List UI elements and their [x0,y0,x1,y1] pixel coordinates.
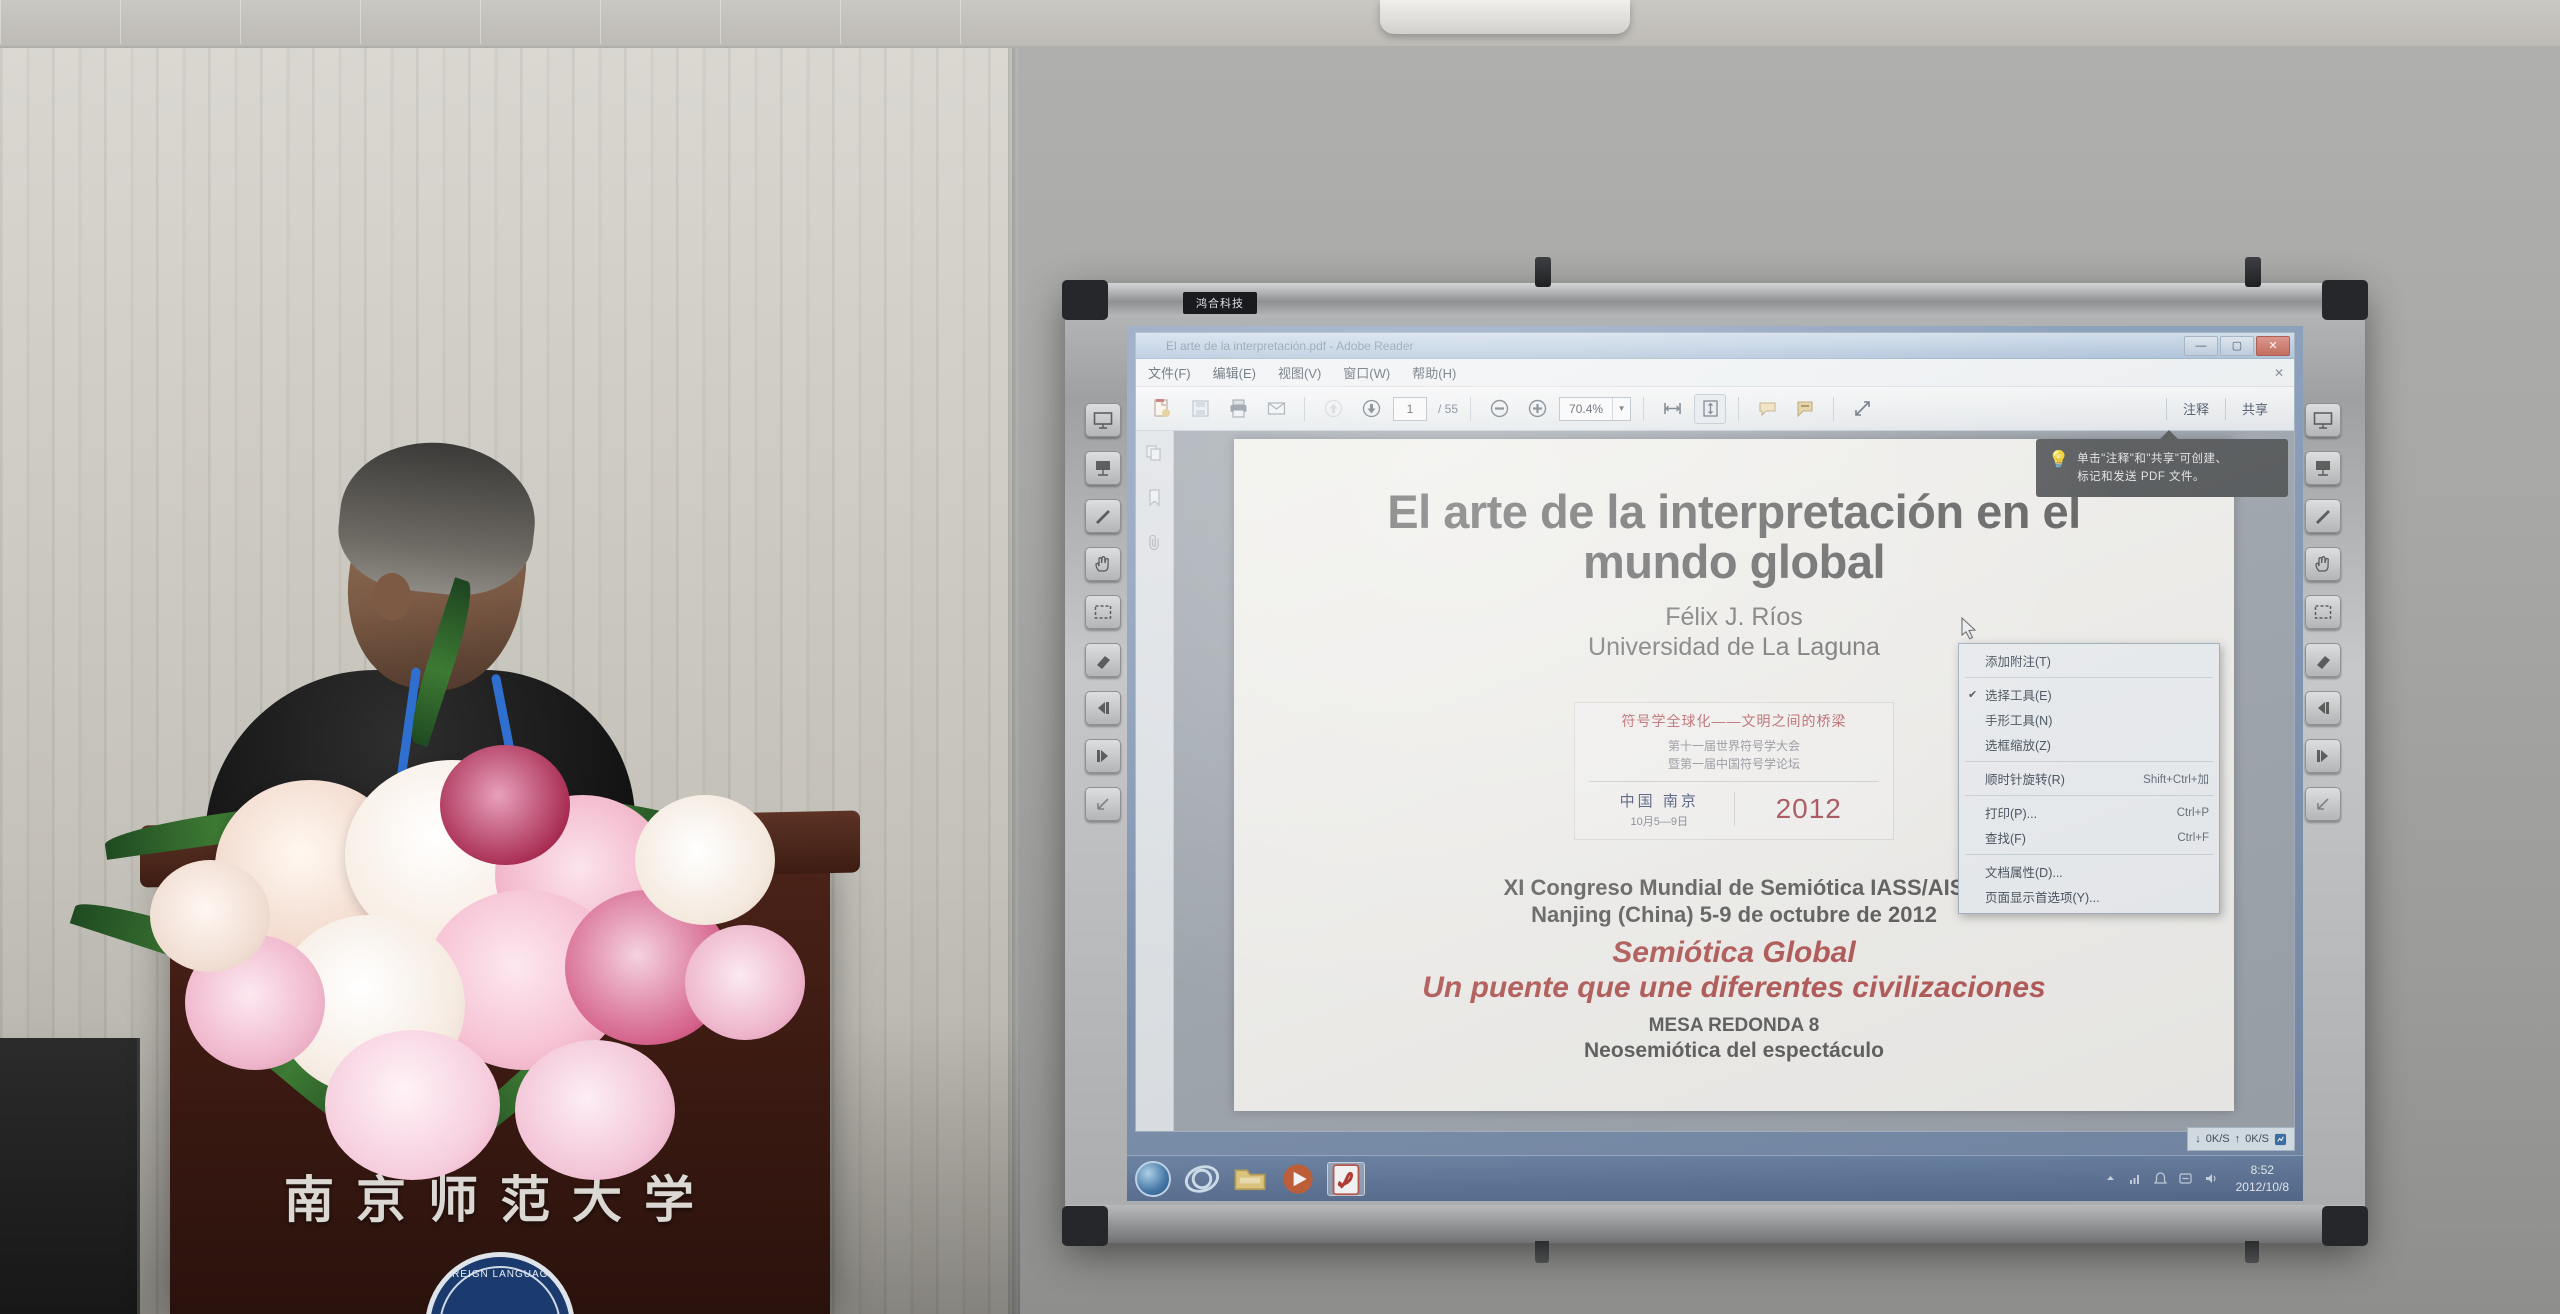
context-menu-item-hand-tool[interactable]: 手形工具(N) [1959,707,2219,732]
whiteboard-button-hand-left[interactable] [1085,547,1121,581]
context-menu-label: 添加附注(T) [1985,651,2051,670]
volume-icon[interactable] [2203,1171,2218,1186]
podium-emblem: FOREIGN LANGUAGES [425,1252,575,1314]
conference-room-scene: 南京师范大学 FOREIGN LANGUAGES [0,0,2560,1314]
whiteboard-button-pen-left[interactable] [1085,499,1121,533]
show-hidden-icons-icon[interactable] [2103,1171,2118,1186]
bottom-clip-left [1535,1241,1549,1263]
context-menu-item-marquee-zoom[interactable]: 选框缩放(Z) [1959,732,2219,757]
arrow-right-icon [1093,747,1113,765]
highlight-button[interactable] [1789,394,1821,424]
context-menu-label: 查找(F) [1985,828,2026,847]
minimize-button[interactable]: — [2184,336,2218,356]
pages-icon[interactable] [1145,443,1164,462]
session-label: MESA REDONDA 8 [1234,1015,2234,1037]
next-page-button[interactable] [1355,394,1387,424]
start-button[interactable] [1135,1161,1171,1197]
toolbar-separator-1 [1304,397,1305,421]
new-pdf-icon [1152,398,1173,419]
mouse-cursor-icon [1960,617,1980,643]
wall-mount-bracket-right [2245,257,2261,287]
window-title: El arte de la interpretación.pdf - Adobe… [1140,339,1414,353]
projector-icon [2313,459,2333,477]
emphasis-line-1: Semiótica Global [1234,935,2234,970]
tooltip-caret [2160,430,2178,439]
eraser-icon [2313,651,2333,669]
emphasis-line-2: Un puente que une diferentes civilizacio… [1234,970,2234,1005]
sticky-note-icon [1757,398,1778,419]
logo-dates: 10月5—9日 [1585,813,1734,829]
windows-explorer-icon[interactable] [1231,1162,1269,1196]
context-menu-label: 文档属性(D)... [1985,862,2063,881]
context-menu-separator-4 [1965,854,2213,855]
undo-arrow-icon [2313,795,2333,813]
menu-window[interactable]: 窗口(W) [1343,363,1390,382]
zoom-out-icon [1489,398,1510,419]
menubar: 文件(F) 编辑(E) 视图(V) 窗口(W) 帮助(H) ✕ [1136,359,2294,387]
pen-icon [1093,507,1113,525]
context-menu[interactable]: 添加附注(T) ✔ 选择工具(E) 手形工具(N) 选框缩放 [1958,643,2220,914]
fit-page-button[interactable] [1694,394,1726,424]
logo-year: 2012 [1735,793,1884,825]
flower-bouquet [95,740,975,1200]
whiteboard-button-select-right[interactable] [2305,595,2341,629]
logo-subtitle-1: 第十一届世界符号学大会 [1585,737,1883,755]
context-menu-item-select-tool[interactable]: ✔ 选择工具(E) [1959,682,2219,707]
previous-page-button[interactable] [1317,394,1349,424]
toolbar-separator-3 [1643,397,1644,421]
board-icon [1093,411,1113,429]
context-menu-item-find[interactable]: 查找(F) Ctrl+F [1959,825,2219,850]
ceiling [0,0,2560,48]
arrow-down-icon [1361,398,1382,419]
context-menu-separator-2 [1965,761,2213,762]
page-viewport[interactable]: El arte de la interpretación en el mundo… [1174,431,2294,1131]
media-player-icon[interactable] [1279,1162,1317,1196]
whiteboard-button-next-left[interactable] [1085,739,1121,773]
marquee-icon [1093,603,1113,621]
upload-speed: 0K/S [2245,1133,2269,1145]
whiteboard-button-whiteboard-mode-right[interactable] [2305,403,2341,437]
frame-corner-top-right [2322,280,2368,320]
ceiling-grid [0,0,1020,44]
menu-help[interactable]: 帮助(H) [1412,363,1456,382]
page-total-label: / 55 [1438,402,1458,416]
emblem-label: FOREIGN LANGUAGES [430,1269,570,1280]
internet-explorer-icon[interactable] [1183,1162,1221,1196]
context-menu-separator-3 [1965,795,2213,796]
document-workarea: El arte de la interpretación en el mundo… [1136,431,2294,1131]
toolbar: 1 / 55 70.4% ▼ [1136,387,2294,431]
projector-icon [1093,459,1113,477]
chevron-down-icon[interactable]: ▼ [1612,398,1630,420]
hand-icon [1093,555,1113,573]
whiteboard-button-undo-right[interactable] [2305,787,2341,821]
share-pane-button[interactable]: 共享 [2226,399,2284,418]
whiteboard-button-next-right[interactable] [2305,739,2341,773]
email-button[interactable] [1260,394,1292,424]
bottom-clip-right [2245,1241,2259,1263]
whiteboard-frame-top [1065,283,2365,317]
bookmark-icon[interactable] [1145,488,1164,507]
read-mode-icon [1852,398,1873,419]
frame-corner-top-left [1062,280,1108,320]
undo-arrow-icon [1093,795,1113,813]
frame-corner-bottom-left [1062,1206,1108,1246]
navigation-pane [1136,431,1174,1131]
toolbar-separator-4 [1738,397,1739,421]
context-menu-label: 选择工具(E) [1985,685,2052,704]
board-icon [2313,411,2333,429]
context-menu-separator-1 [1965,677,2213,678]
whiteboard-button-eraser-left[interactable] [1085,643,1121,677]
eraser-icon [1093,651,1113,669]
close-document-icon[interactable]: ✕ [2274,366,2284,380]
context-menu-item-print[interactable]: 打印(P)... Ctrl+P [1959,800,2219,825]
paperclip-icon[interactable] [1145,533,1164,552]
download-speed: 0K/S [2206,1133,2230,1145]
speaker-ear [373,573,411,621]
logo-bottom-row: 中国 南京 10月5—9日 2012 [1585,790,1883,829]
sticky-note-button[interactable] [1751,394,1783,424]
whiteboard-button-eraser-right[interactable] [2305,643,2341,677]
menu-file[interactable]: 文件(F) [1148,363,1191,382]
download-arrow-icon: ↓ [2195,1133,2201,1145]
highlight-icon [1795,398,1816,419]
arrow-right-icon [2313,747,2333,765]
whiteboard-button-presentation-right[interactable] [2305,451,2341,485]
network-icon[interactable] [2128,1171,2143,1186]
zoom-in-button[interactable] [1521,394,1553,424]
comment-share-tooltip: 💡 单击"注释"和"共享"可创建、 标记和发送 PDF 文件。 [2036,439,2288,497]
upload-arrow-icon: ↑ [2235,1133,2241,1145]
taskbar-clock[interactable]: 8:52 2012/10/8 [2228,1162,2289,1194]
close-button[interactable]: ✕ [2256,336,2290,356]
pdf-reader-window: El arte de la interpretación.pdf - Adobe… [1135,332,2295,1132]
whiteboard-button-select-left[interactable] [1085,595,1121,629]
whiteboard-brand-label: 鸿合科技 [1183,292,1257,314]
zoom-out-button[interactable] [1483,394,1515,424]
arrow-left-icon [1093,699,1113,717]
whiteboard-button-hand-right[interactable] [2305,547,2341,581]
page-number-input[interactable]: 1 [1393,397,1427,421]
adobe-reader-icon[interactable] [1327,1162,1365,1196]
whiteboard-button-prev-left[interactable] [1085,691,1121,725]
arrow-left-icon [2313,699,2333,717]
whiteboard-button-rail-left [1085,403,1125,835]
input-method-icon[interactable] [2178,1171,2193,1186]
window-titlebar[interactable]: El arte de la interpretación.pdf - Adobe… [1136,333,2294,359]
whiteboard-button-whiteboard-mode-left[interactable] [1085,403,1121,437]
logo-divider [1589,781,1879,782]
logo-headline: 符号学全球化——文明之间的桥梁 [1585,711,1883,731]
save-button[interactable] [1184,394,1216,424]
whiteboard-frame-bottom [1065,1205,2365,1243]
logo-city-block: 中国 南京 10月5—9日 [1585,790,1734,829]
network-speed-widget[interactable]: ↓ 0K/S ↑ 0K/S [2187,1127,2295,1151]
projected-screen: El arte de la interpretación.pdf - Adobe… [1127,326,2303,1201]
menu-view[interactable]: 视图(V) [1278,363,1321,382]
session-topic: Neosemiótica del espectáculo [1234,1039,2234,1063]
fit-page-icon [1700,398,1721,419]
marquee-icon [2313,603,2333,621]
menu-edit[interactable]: 编辑(E) [1213,363,1256,382]
envelope-icon [1266,398,1287,419]
hand-icon [2313,555,2333,573]
slide-title-line2: mundo global [1234,537,2234,587]
toolbar-separator-2 [1470,397,1471,421]
context-menu-shortcut: Ctrl+F [2177,832,2209,844]
windows-taskbar: 8:52 2012/10/8 [1127,1155,2303,1201]
printer-icon [1228,398,1249,419]
whiteboard-button-pen-right[interactable] [2305,499,2341,533]
clock-time: 8:52 [2236,1162,2289,1178]
maximize-button[interactable]: ▢ [2220,336,2254,356]
whiteboard-button-prev-right[interactable] [2305,691,2341,725]
arrow-up-icon [1323,398,1344,419]
tooltip-line-1: 单击"注释"和"共享"可创建、 [2077,451,2227,469]
lightbulb-icon: 💡 [2048,451,2069,487]
logo-city: 中国 南京 [1585,790,1734,811]
context-menu-item-page-display-prefs[interactable]: 页面显示首选项(Y)... [1959,884,2219,909]
floppy-disk-icon [1190,398,1211,419]
conference-logo: 符号学全球化——文明之间的桥梁 第十一届世界符号学大会 暨第一届中国符号学论坛 … [1574,702,1894,840]
whiteboard-button-rail-right [2305,403,2345,835]
context-menu-shortcut: Shift+Ctrl+加 [2143,771,2209,787]
ceiling-light-fixture [1380,0,1630,34]
zoom-level-combobox[interactable]: 70.4% ▼ [1559,397,1631,421]
toolbar-separator-5 [1833,397,1834,421]
print-button[interactable] [1222,394,1254,424]
frame-corner-bottom-right [2322,1206,2368,1246]
logo-subtitle-2: 暨第一届中国符号学论坛 [1585,755,1883,773]
checkmark-icon: ✔ [1968,688,1977,701]
system-tray: 8:52 2012/10/8 [2103,1162,2295,1194]
fit-width-button[interactable] [1656,394,1688,424]
context-menu-item-rotate-clockwise[interactable]: 顺时针旋转(R) Shift+Ctrl+加 [1959,766,2219,791]
pen-icon [2313,507,2333,525]
toolbar-right-group: 注释 共享 [2166,398,2284,420]
zoom-level-value: 70.4% [1560,402,1612,416]
window-controls: — ▢ ✕ [2184,336,2290,356]
tooltip-line-2: 标记和发送 PDF 文件。 [2077,469,2227,487]
context-menu-shortcut: Ctrl+P [2177,807,2209,819]
whiteboard-button-undo-left[interactable] [1085,787,1121,821]
context-menu-item-add-note[interactable]: 添加附注(T) [1959,648,2219,673]
comment-pane-button[interactable]: 注释 [2167,399,2225,418]
zoom-in-icon [1527,398,1548,419]
context-menu-item-document-properties[interactable]: 文档属性(D)... [1959,859,2219,884]
context-menu-label: 打印(P)... [1985,803,2037,822]
fit-width-icon [1662,398,1683,419]
context-menu-label: 手形工具(N) [1985,710,2052,729]
action-center-icon[interactable] [2153,1171,2168,1186]
context-menu-label: 选框缩放(Z) [1985,735,2051,754]
read-mode-button[interactable] [1846,394,1878,424]
create-pdf-button[interactable] [1146,394,1178,424]
whiteboard-button-presentation-left[interactable] [1085,451,1121,485]
tooltip-text-block: 单击"注释"和"共享"可创建、 标记和发送 PDF 文件。 [2077,451,2227,487]
context-menu-label: 顺时针旋转(R) [1985,769,2065,788]
clock-date: 2012/10/8 [2236,1179,2289,1195]
wall-mount-bracket-left [1535,257,1551,287]
context-menu-label: 页面显示首选项(Y)... [1985,887,2100,906]
slide-author: Félix J. Ríos [1234,602,2234,632]
network-monitor-icon[interactable] [2274,1133,2287,1146]
interactive-whiteboard: 鸿合科技 [1065,283,2365,1243]
